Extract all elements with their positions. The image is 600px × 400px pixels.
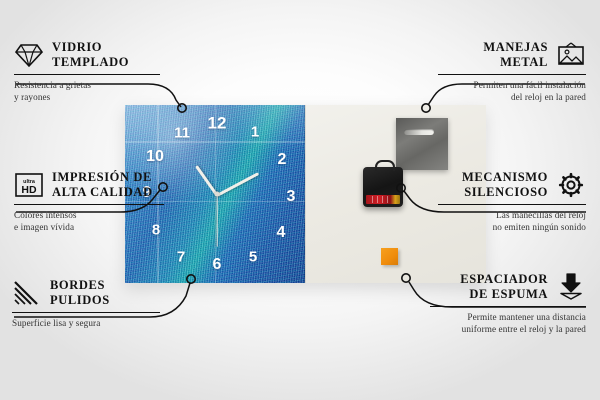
feature-subtitle-line1: Las manecillas del reloj [438,209,586,221]
feature-divider [430,306,586,308]
feature-subtitle-line1: Permite mantener una distancia [430,311,586,323]
foam-spacer [381,248,398,265]
infographic-stage: 12 1 2 3 4 5 6 7 8 9 10 11 [0,0,600,400]
gear-icon [556,171,586,199]
feature-impresion-alta-calidad[interactable]: ultra HD IMPRESIÓN DE ALTA CALIDAD Color… [14,170,164,233]
feature-title-line1: IMPRESIÓN DE [52,170,153,185]
clock-second-hand [216,195,217,247]
clock-numeral: 2 [278,152,287,168]
ultra-hd-large-text: HD [21,184,37,196]
clock-center-pin [215,192,220,197]
feature-title-line2: ALTA CALIDAD [52,185,153,200]
clock-numeral: 6 [213,257,222,273]
product-photo: 12 1 2 3 4 5 6 7 8 9 10 11 [125,105,485,283]
clock-hour-hand [195,165,218,196]
feature-divider [438,204,586,206]
clock-numeral: 3 [287,189,296,205]
feature-title-line2: TEMPLADO [52,55,129,70]
down-arrow-stack-icon [556,273,586,301]
hanging-loop [375,160,395,171]
ultra-hd-icon: ultra HD [14,172,44,198]
feature-mecanismo-silencioso[interactable]: MECANISMO SILENCIOSO Las manecillas del … [438,170,586,233]
feature-title-line1: BORDES [50,278,110,293]
clock-numeral: 4 [277,225,286,241]
picture-frame-icon [556,42,586,68]
feature-subtitle-line2: uniforme entre el reloj y la pared [430,323,586,335]
feature-espaciador-espuma[interactable]: ESPACIADOR DE ESPUMA Permite mantener un… [430,272,586,335]
clock-numeral: 5 [249,250,257,265]
clock-numeral: 10 [146,149,164,165]
feature-subtitle-line1: Resistencia a grietas [14,79,160,91]
feature-bordes-pulidos[interactable]: BORDES PULIDOS Superficie lisa y segura [12,278,160,329]
feature-subtitle-line1: Permiten una fácil instalación [438,79,586,91]
feature-subtitle-line2: del reloj en la pared [438,91,586,103]
hanger-slot [404,129,434,135]
clock-minute-hand [216,172,259,197]
feature-divider [14,74,160,76]
feature-title-line1: MECANISMO [438,170,548,185]
feature-subtitle-line2: e imagen vívida [14,221,164,233]
clock-numeral: 11 [174,126,190,141]
feature-title-line1: VIDRIO [52,40,129,55]
feature-subtitle-line2: no emiten ningún sonido [438,221,586,233]
battery [366,195,400,204]
feature-title-line2: PULIDOS [50,293,110,308]
clock-numeral: 7 [177,250,185,265]
polished-edges-icon [12,280,42,306]
feature-subtitle-line2: y rayones [14,91,160,103]
feature-divider [438,74,586,76]
clock-numeral: 12 [208,115,227,132]
feature-title-line1: ESPACIADOR [430,272,548,287]
feature-subtitle-line1: Superficie lisa y segura [12,317,160,329]
feature-divider [12,312,160,314]
feature-title-line2: SILENCIOSO [438,185,548,200]
feature-vidrio-templado[interactable]: VIDRIO TEMPLADO Resistencia a grietas y … [14,40,160,103]
metal-hanger-plate [396,118,448,170]
feature-title-line2: DE ESPUMA [430,287,548,302]
feature-title-line2: METAL [438,55,548,70]
feature-title-line1: MANEJAS [438,40,548,55]
feature-divider [14,204,164,206]
diamond-icon [14,42,44,68]
feature-subtitle-line1: Colores intensos [14,209,164,221]
clock-numeral: 1 [251,125,259,140]
feature-manejas-metal[interactable]: MANEJAS METAL Permiten una fácil instala… [438,40,586,103]
silent-clock-mechanism [363,167,403,207]
